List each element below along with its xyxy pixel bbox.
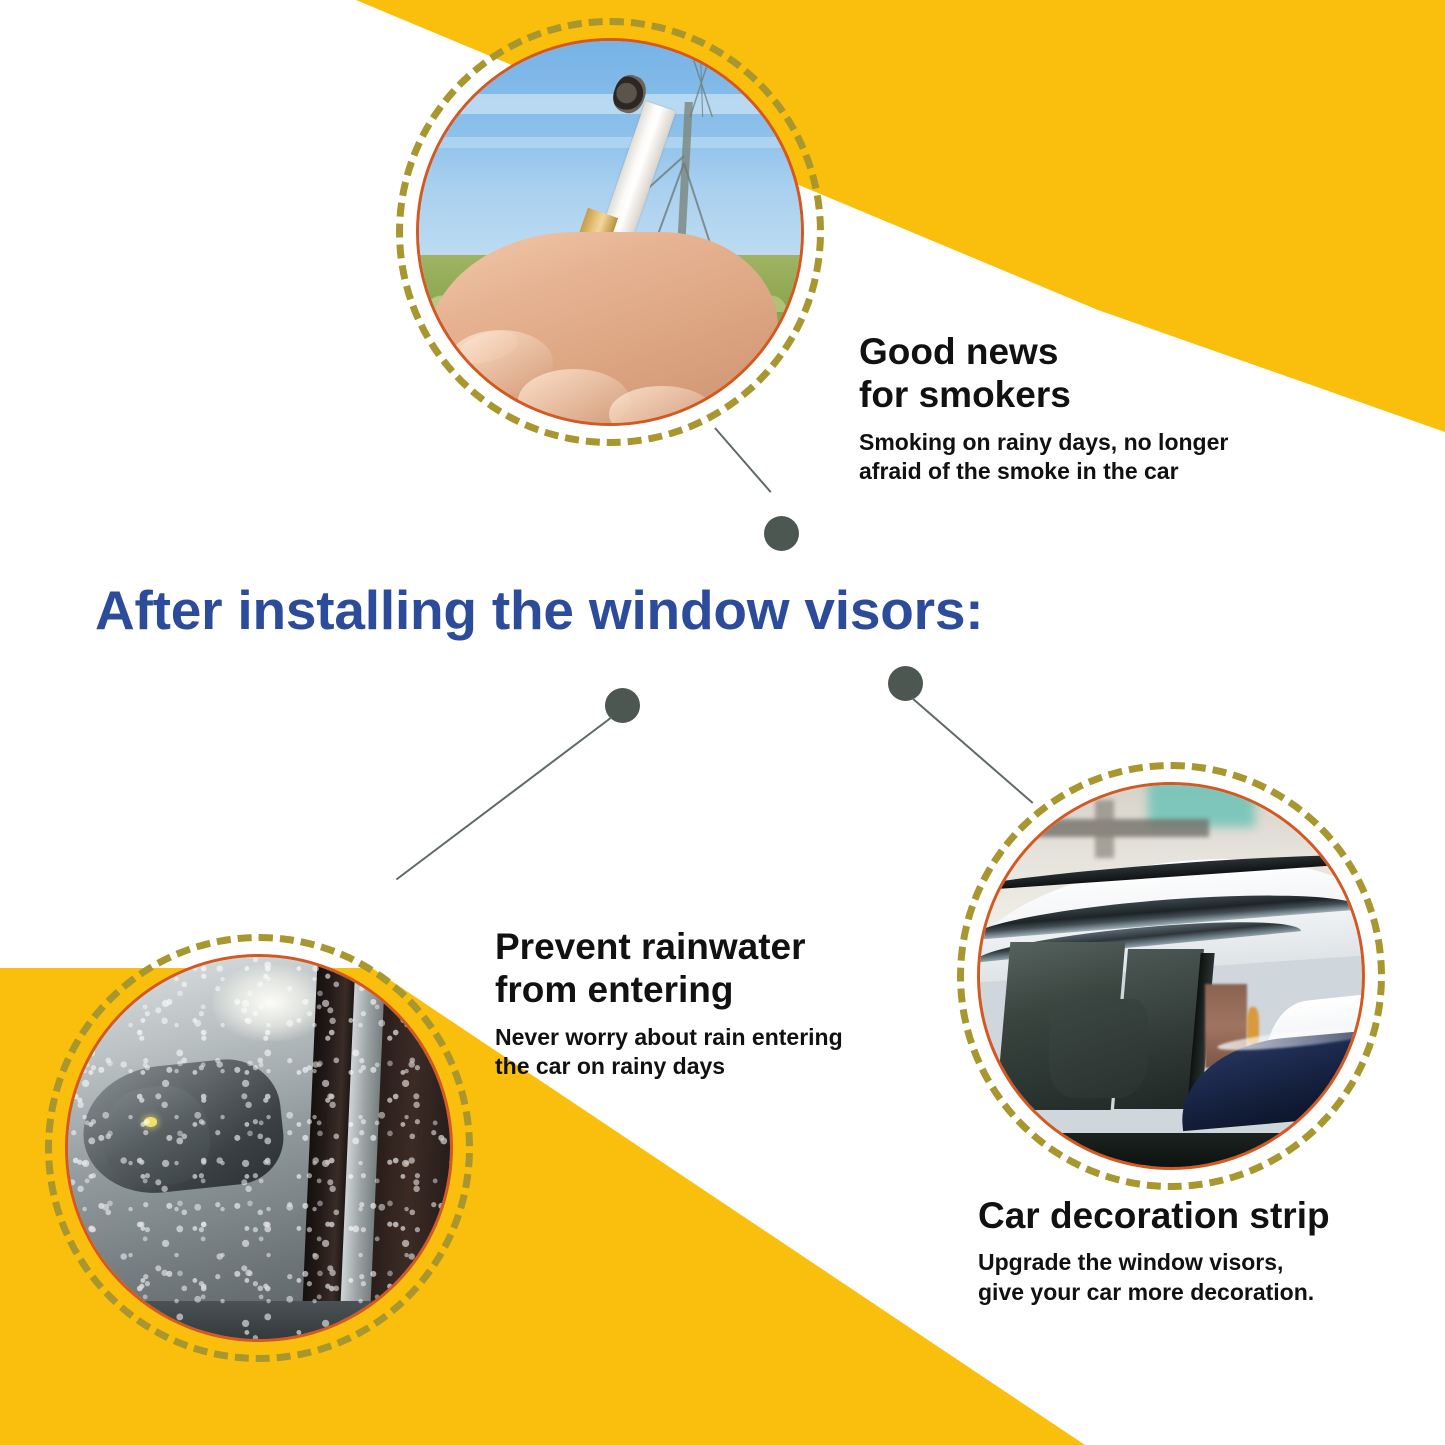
feature-title-smokers-line2: for smokers [859, 373, 1329, 416]
feature-body-rainwater-line1: Never worry about rain entering [495, 1023, 895, 1052]
hand [427, 232, 778, 426]
leader-line-rainwater [396, 716, 613, 880]
background-post [1095, 800, 1114, 857]
feature-photo-smokers [396, 18, 824, 446]
feature-body-decoration-line2: give your car more decoration. [978, 1278, 1428, 1307]
rain-droplets [68, 957, 450, 1339]
feature-body-rainwater: Never worry about rain entering the car … [495, 1023, 895, 1082]
page-title: After installing the window visors: [95, 578, 983, 642]
feature-title-smokers: Good news for smokers [859, 330, 1329, 417]
background-beam [1033, 819, 1209, 836]
photo-hand-holding-cigarette [416, 38, 804, 426]
feature-title-decoration-line1: Car decoration strip [978, 1194, 1428, 1237]
infographic-page: Good news for smokers Smoking on rainy d… [0, 0, 1445, 1445]
feature-title-smokers-line1: Good news [859, 330, 1329, 373]
photo-car-window-visors [977, 782, 1365, 1170]
feature-body-smokers-line2: afraid of the smoke in the car [859, 457, 1329, 486]
feature-text-rainwater: Prevent rainwater from entering Never wo… [495, 925, 895, 1081]
feature-body-smokers-line1: Smoking on rainy days, no longer [859, 428, 1329, 457]
feature-title-rainwater-line2: from entering [495, 968, 895, 1011]
feature-title-rainwater: Prevent rainwater from entering [495, 925, 895, 1012]
feature-photo-rainwater [45, 934, 473, 1362]
feature-body-smokers: Smoking on rainy days, no longer afraid … [859, 428, 1329, 487]
feature-text-smokers: Good news for smokers Smoking on rainy d… [859, 330, 1329, 486]
feature-body-decoration: Upgrade the window visors, give your car… [978, 1248, 1428, 1307]
connector-dot-smokers [764, 516, 799, 551]
feature-title-decoration: Car decoration strip [978, 1194, 1428, 1237]
sky-haze-band-2 [419, 137, 801, 148]
connector-dot-decoration [888, 666, 923, 701]
feature-photo-decoration [957, 762, 1385, 1190]
feature-text-decoration: Car decoration strip Upgrade the window … [978, 1194, 1428, 1307]
feature-body-decoration-line1: Upgrade the window visors, [978, 1248, 1428, 1277]
window-sunshade [1049, 999, 1148, 1098]
photo-rainy-car-window [65, 954, 453, 1342]
feature-body-rainwater-line2: the car on rainy days [495, 1052, 895, 1081]
foreground-shadow [980, 1133, 1362, 1167]
feature-title-rainwater-line1: Prevent rainwater [495, 925, 895, 968]
